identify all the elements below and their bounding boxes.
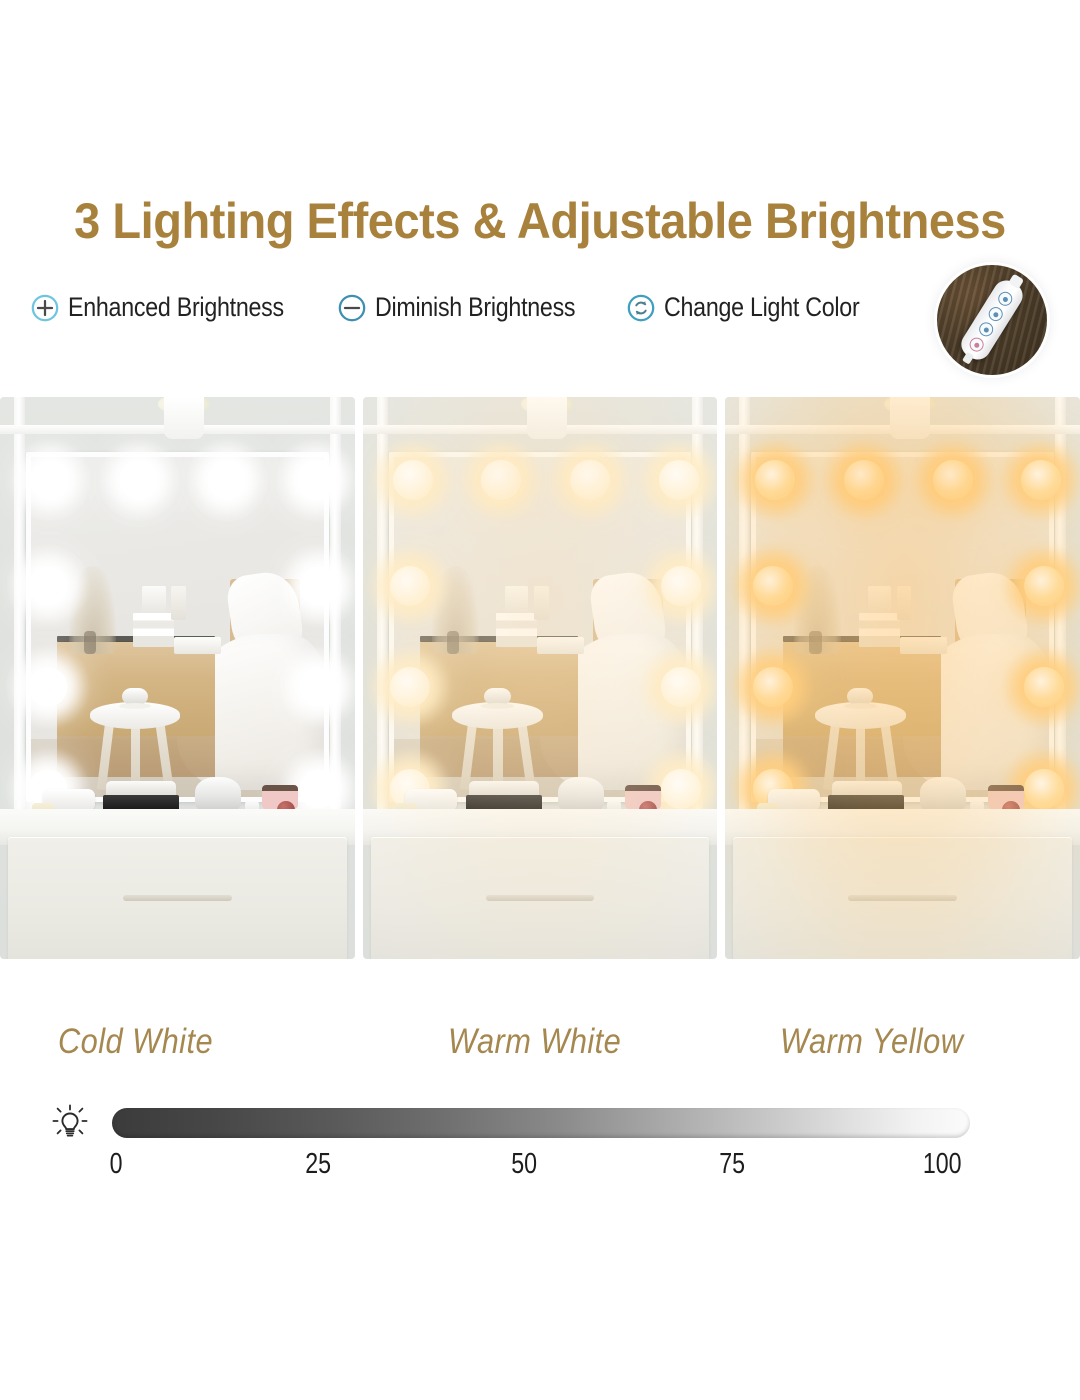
light-bulb	[207, 460, 247, 500]
mode-label-warm-yellow: Warm Yellow	[780, 1022, 963, 1062]
infographic-page: 3 Lighting Effects & Adjustable Brightne…	[0, 0, 1080, 1400]
light-bulb	[1024, 667, 1064, 707]
light-bulb	[933, 460, 973, 500]
vase-decor	[527, 397, 567, 439]
lighting-mode-panels	[0, 397, 1080, 959]
plus-circle-icon	[30, 293, 60, 323]
remote-button-2	[986, 304, 1005, 323]
tick-label: 50	[511, 1148, 537, 1181]
light-bulb	[570, 460, 610, 500]
remote-button-3	[977, 320, 996, 339]
light-bulb	[119, 460, 159, 500]
tick-label: 25	[305, 1148, 331, 1181]
mode-label-cold-white: Cold White	[58, 1022, 213, 1062]
light-bulb	[30, 460, 70, 500]
light-bulb	[390, 667, 430, 707]
minus-circle-icon	[337, 293, 367, 323]
vanity-drawer	[733, 837, 1072, 959]
light-bulb	[28, 667, 68, 707]
remote-button-1	[996, 289, 1015, 308]
light-bulb	[393, 460, 433, 500]
vanity-drawer	[371, 837, 710, 959]
feature-change-light-color: Change Light Color	[626, 292, 891, 323]
vanity-drawer	[8, 837, 347, 959]
panel-cold-white	[0, 397, 355, 959]
light-bulb	[1024, 769, 1064, 809]
tick-label: 0	[110, 1148, 123, 1181]
light-bulb	[481, 460, 521, 500]
light-bulb	[661, 667, 701, 707]
feature-label: Diminish Brightness	[375, 292, 575, 323]
light-bulb	[755, 460, 795, 500]
vase-decor	[890, 397, 930, 439]
remote-control-icon	[956, 276, 1027, 365]
page-title: 3 Lighting Effects & Adjustable Brightne…	[32, 192, 1047, 250]
feature-list: Enhanced Brightness Diminish Brightness	[0, 292, 1080, 323]
light-bulb	[299, 566, 339, 606]
tick-label: 100	[923, 1148, 962, 1181]
light-bulb	[1021, 460, 1061, 500]
panel-warm-white	[363, 397, 718, 959]
light-bulb	[661, 769, 701, 809]
mode-label-row: Cold White Warm White Warm Yellow	[0, 1022, 1080, 1072]
feature-enhanced-brightness: Enhanced Brightness	[30, 292, 319, 323]
feature-diminish-brightness: Diminish Brightness	[337, 292, 608, 323]
light-bulb	[659, 460, 699, 500]
remote-control-badge	[937, 265, 1047, 375]
light-bulb	[299, 667, 339, 707]
remote-button-4	[967, 335, 986, 354]
tick-label: 75	[719, 1148, 745, 1181]
refresh-circle-icon	[626, 293, 656, 323]
light-bulb	[753, 667, 793, 707]
light-bulb	[28, 566, 68, 606]
light-bulb	[753, 566, 793, 606]
light-bulb	[299, 769, 339, 809]
feature-label: Change Light Color	[664, 292, 859, 323]
panel-warm-yellow	[725, 397, 1080, 959]
feature-label: Enhanced Brightness	[68, 292, 284, 323]
brightness-gradient-bar[interactable]	[112, 1108, 970, 1138]
lightbulb-icon	[48, 1102, 92, 1146]
light-bulb	[296, 460, 336, 500]
light-bulb	[844, 460, 884, 500]
light-bulb	[1024, 566, 1064, 606]
brightness-slider[interactable]	[0, 1100, 1080, 1150]
light-bulb	[390, 566, 430, 606]
light-bulb	[661, 566, 701, 606]
mode-label-warm-white: Warm White	[448, 1022, 621, 1062]
vase-decor	[164, 397, 204, 439]
brightness-tick-labels: 0 25 50 75 100	[0, 1148, 1080, 1188]
